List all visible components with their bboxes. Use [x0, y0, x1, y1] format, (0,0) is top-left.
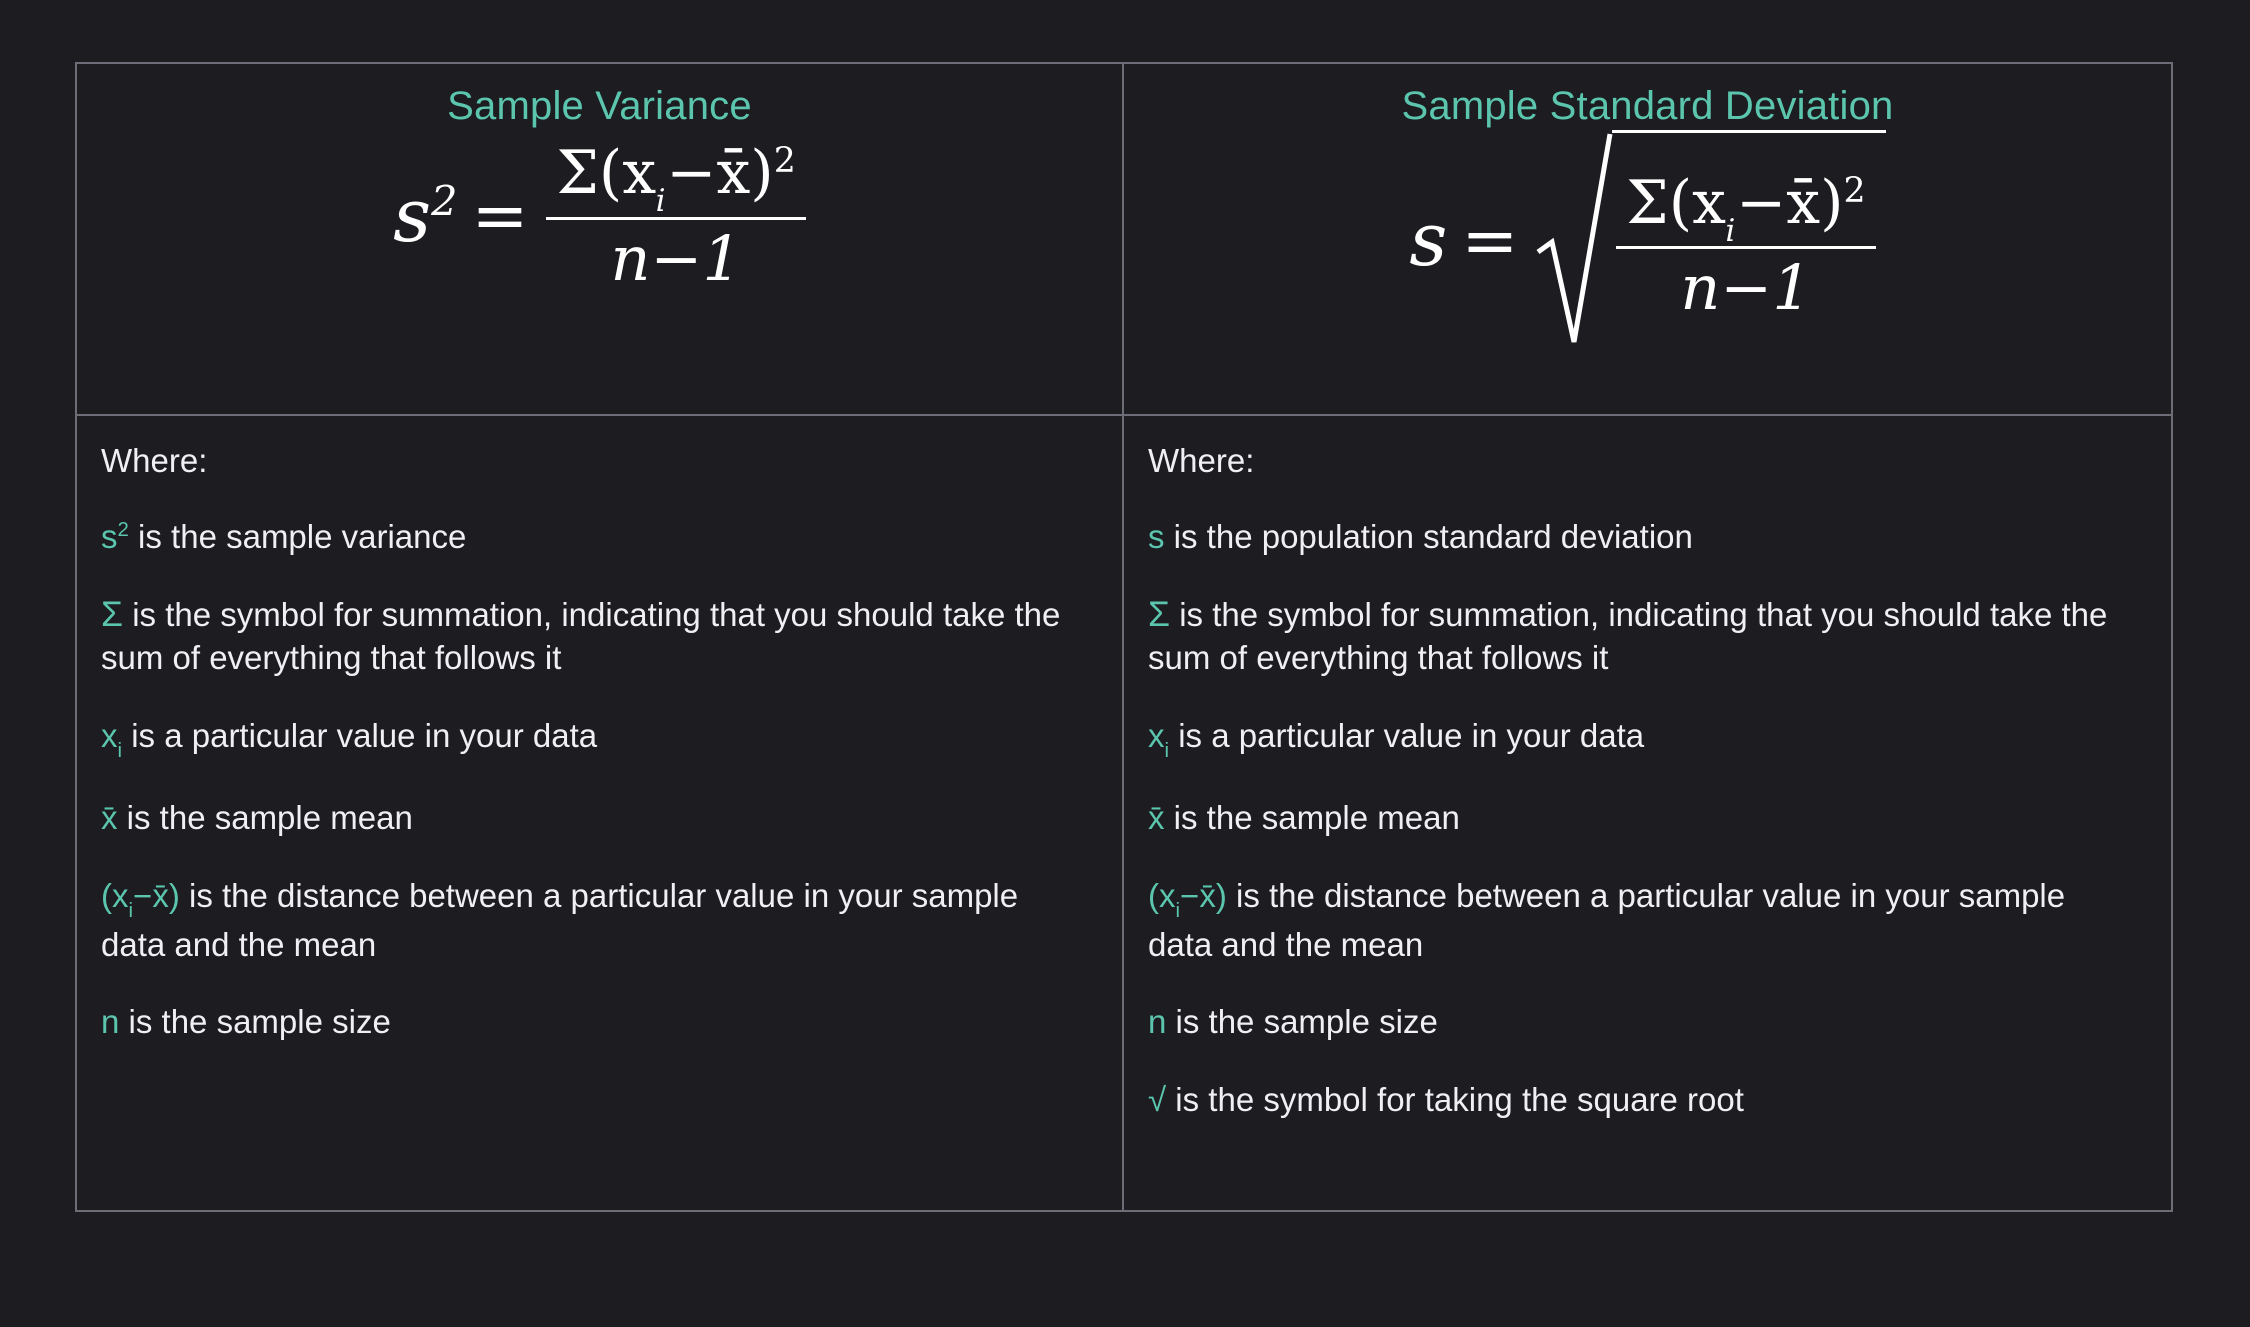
definition-item: s2 is the sample variance: [101, 515, 1088, 559]
formula-lhs-superscript: 2: [431, 178, 457, 226]
sigma-symbol: Σ: [1626, 168, 1668, 238]
formula-denominator-variance: n−1: [601, 220, 752, 291]
definition-symbol-x-bar: x̄: [101, 799, 118, 836]
radical-group: Σ(xi−x̄)2 n−1: [1536, 130, 1885, 353]
definition-item: xi is a particular value in your data: [1148, 714, 2137, 763]
x-symbol: x: [622, 138, 656, 208]
column-title-sample-variance: Sample Variance: [77, 64, 1122, 129]
definition-symbol-deviation: (xi−x̄): [1148, 877, 1227, 914]
where-cell-std-dev: Where: s is the population standard devi…: [1124, 416, 2171, 1210]
formula-sample-variance: s2 = Σ(xi−x̄)2 n−1: [77, 142, 1122, 291]
where-cell-variance: Where: s2 is the sample variance Σ is th…: [77, 416, 1122, 1210]
formula-cell-variance: Sample Variance s2 = Σ(xi−x̄)2 n−1: [77, 64, 1122, 416]
definition-text: is the distance between a particular val…: [101, 877, 1018, 963]
formula-lhs-std-dev: s: [1409, 203, 1447, 277]
definition-item: x̄ is the sample mean: [1148, 796, 2137, 840]
radicand: Σ(xi−x̄)2 n−1: [1612, 130, 1885, 353]
definition-text: is the sample variance: [129, 518, 467, 555]
formula-lhs-symbol: s: [393, 173, 431, 259]
formula-fraction-variance: Σ(xi−x̄)2 n−1: [546, 142, 805, 291]
definition-text: is a particular value in your data: [122, 717, 597, 754]
formula-numerator-variance: Σ(xi−x̄)2: [546, 142, 805, 217]
definition-symbol-s: s: [1148, 518, 1165, 555]
formula-lhs-symbol: s: [1409, 197, 1447, 283]
definition-symbol-n: n: [101, 1003, 119, 1040]
definition-symbol-sigma: Σ: [1148, 594, 1170, 634]
definition-item: (xi−x̄) is the distance between a partic…: [1148, 874, 2137, 966]
definition-text: is a particular value in your data: [1169, 717, 1644, 754]
definition-item: Σ is the symbol for summation, indicatin…: [1148, 593, 2137, 680]
column-sample-variance: Sample Variance s2 = Σ(xi−x̄)2 n−1 Where…: [77, 64, 1124, 1210]
column-sample-standard-deviation: Sample Standard Deviation s = Σ(xi−x̄)2: [1124, 64, 2171, 1210]
definition-text: is the symbol for summation, indicating …: [101, 596, 1060, 677]
open-paren: (: [599, 138, 622, 208]
formula-cell-std-dev: Sample Standard Deviation s = Σ(xi−x̄)2: [1124, 64, 2171, 416]
definition-symbol-sigma: Σ: [101, 594, 123, 634]
minus-sign: −: [1736, 168, 1786, 238]
x-subscript-i: i: [656, 183, 666, 219]
definition-item: s is the population standard deviation: [1148, 515, 2137, 559]
formula-sample-standard-deviation: s = Σ(xi−x̄)2 n−1: [1124, 130, 2171, 353]
definition-text: is the symbol for taking the square root: [1166, 1081, 1744, 1118]
close-paren: ): [750, 138, 773, 208]
open-paren: (: [1669, 168, 1692, 238]
definition-item: n is the sample size: [101, 1000, 1088, 1044]
x-subscript-i: i: [1725, 213, 1735, 249]
where-label-std-dev: Where:: [1148, 440, 2137, 481]
formula-equals-sign: =: [1461, 202, 1518, 281]
formula-comparison-table: Sample Variance s2 = Σ(xi−x̄)2 n−1 Where…: [75, 62, 2173, 1212]
minus-sign: −: [666, 138, 716, 208]
x-bar-symbol: x̄: [716, 138, 750, 208]
definition-symbol-x-i: xi: [101, 717, 122, 754]
definition-symbol-n: n: [1148, 1003, 1166, 1040]
definition-text: is the sample size: [119, 1003, 390, 1040]
definition-item: (xi−x̄) is the distance between a partic…: [101, 874, 1088, 966]
definition-text: is the sample mean: [118, 799, 413, 836]
definition-symbol-deviation: (xi−x̄): [101, 877, 180, 914]
definition-text: is the sample mean: [1165, 799, 1460, 836]
definition-item: x̄ is the sample mean: [101, 796, 1088, 840]
close-paren: ): [1820, 168, 1843, 238]
definition-symbol-x-i: xi: [1148, 717, 1169, 754]
definition-symbol-x-bar: x̄: [1148, 799, 1165, 836]
formula-fraction-std-dev: Σ(xi−x̄)2 n−1: [1616, 172, 1875, 321]
definition-symbol-s-squared: s2: [101, 518, 129, 555]
formula-equals-sign: =: [472, 177, 529, 256]
sigma-symbol: Σ: [556, 138, 598, 208]
definition-item: √ is the symbol for taking the square ro…: [1148, 1078, 2137, 1122]
definition-text: is the sample size: [1166, 1003, 1437, 1040]
definition-item: xi is a particular value in your data: [101, 714, 1088, 763]
definition-text: is the distance between a particular val…: [1148, 877, 2065, 963]
column-title-sample-standard-deviation: Sample Standard Deviation: [1124, 64, 2171, 129]
x-bar-symbol: x̄: [1786, 168, 1820, 238]
exponent-two: 2: [774, 141, 796, 181]
formula-lhs-variance: s2: [393, 179, 457, 253]
definition-item: n is the sample size: [1148, 1000, 2137, 1044]
exponent-two: 2: [1844, 171, 1866, 211]
formula-numerator-std-dev: Σ(xi−x̄)2: [1616, 172, 1875, 247]
formula-denominator-std-dev: n−1: [1670, 249, 1821, 320]
definition-text: is the population standard deviation: [1165, 518, 1693, 555]
definition-item: Σ is the symbol for summation, indicatin…: [101, 593, 1088, 680]
x-symbol: x: [1692, 168, 1726, 238]
where-label-variance: Where:: [101, 440, 1088, 481]
definition-symbol-square-root: √: [1148, 1081, 1166, 1118]
definition-text: is the symbol for summation, indicating …: [1148, 596, 2107, 677]
square-root-icon: [1536, 130, 1614, 353]
